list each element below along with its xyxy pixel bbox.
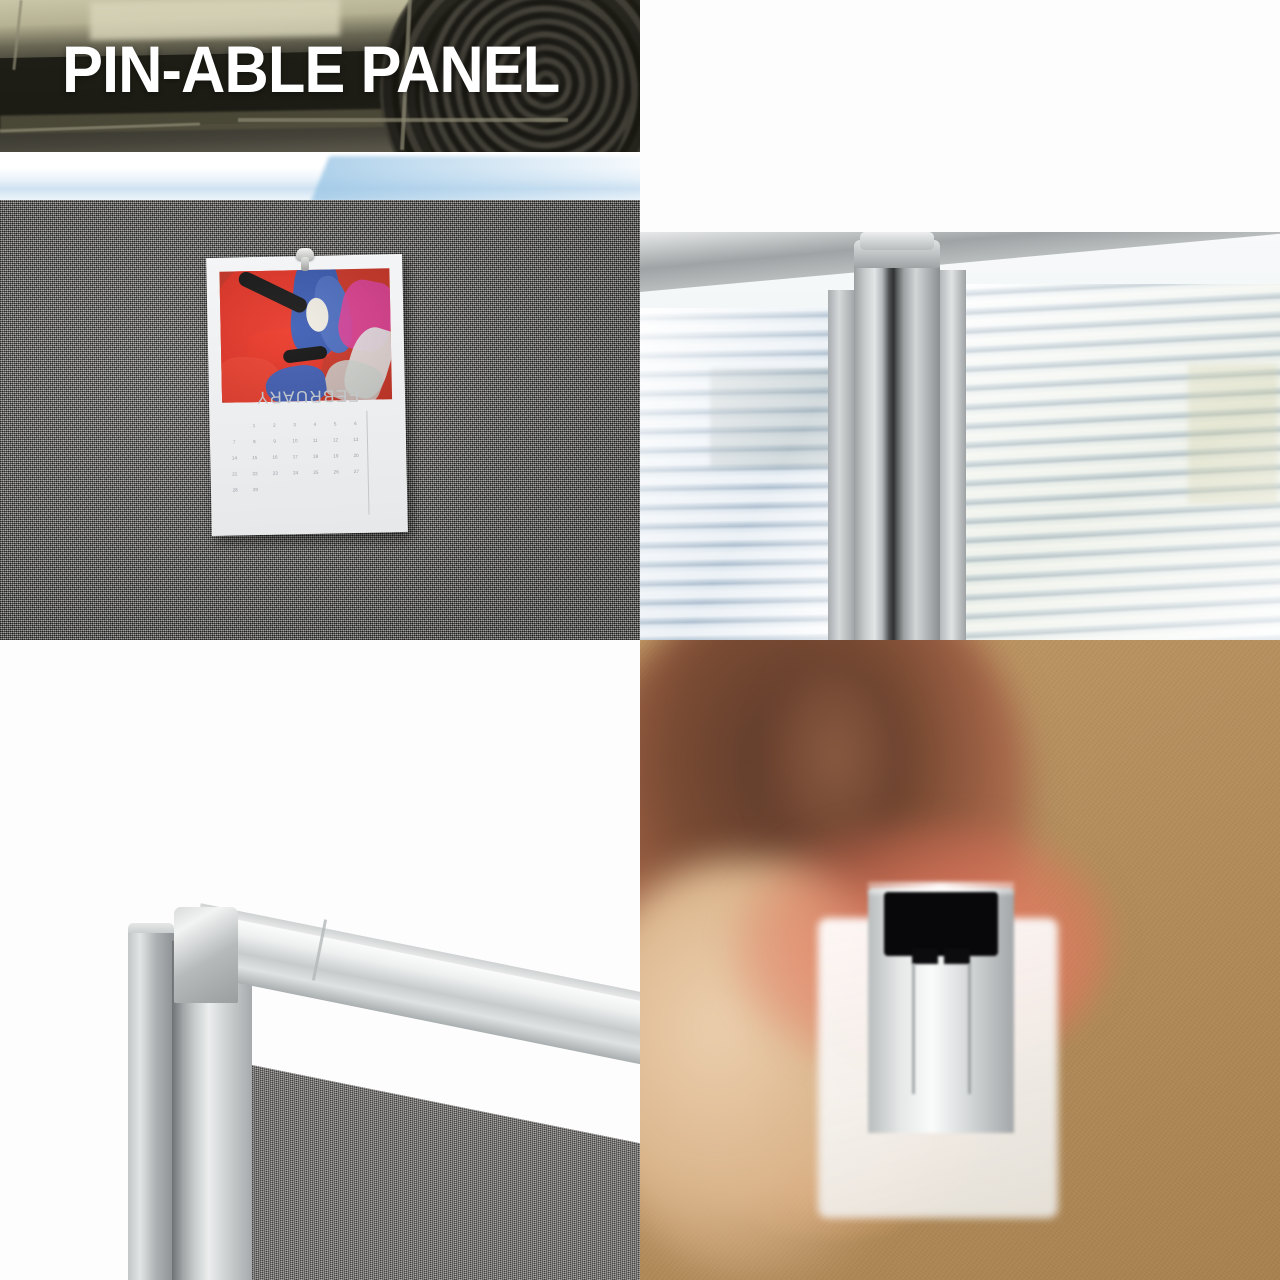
extrusion-notch bbox=[912, 948, 938, 964]
calendar-cell: 16 bbox=[265, 448, 286, 464]
calendar-cell: 26 bbox=[326, 463, 347, 479]
corner-connector-block bbox=[174, 907, 238, 1003]
calendar-cell: 27 bbox=[346, 463, 367, 479]
calendar-cell: 19 bbox=[326, 447, 347, 463]
front-post bbox=[182, 979, 252, 1280]
calendar-cell: 23 bbox=[265, 464, 286, 480]
calendar-cell: 29 bbox=[245, 481, 266, 497]
calendar-grid: 1 2 3 4 5 6 7 8 9 10 11 12 13 14 bbox=[223, 415, 367, 514]
calendar-cell: 20 bbox=[346, 447, 367, 463]
calendar-cell: 14 bbox=[224, 449, 245, 465]
calendar-cell: 1 bbox=[244, 417, 265, 433]
calendar-cell: 18 bbox=[305, 448, 326, 464]
calendar-cell: 15 bbox=[244, 449, 265, 465]
aluminum-extrusion-profile bbox=[868, 888, 1014, 1133]
calendar-cell: 2 bbox=[264, 416, 285, 432]
ceiling-pipe bbox=[238, 118, 568, 122]
heading-pin-able-panel: PIN-ABLE PANEL bbox=[62, 36, 559, 102]
calendar-cell: 22 bbox=[245, 465, 266, 481]
exterior-building-blur bbox=[710, 368, 836, 468]
calendar-cell: 25 bbox=[306, 464, 327, 480]
exterior-building-blur bbox=[1188, 364, 1278, 504]
extrusion-cavity bbox=[884, 892, 998, 956]
calendar-cell: 7 bbox=[224, 433, 245, 449]
calendar-cell bbox=[265, 480, 286, 496]
calendar-cell bbox=[286, 480, 307, 496]
aluminum-corner-photo bbox=[110, 895, 640, 1280]
panel-toolless-assembly: TOOLLESS ASSEMBLY bbox=[640, 640, 1280, 1280]
calendar-cell: 17 bbox=[285, 448, 306, 464]
right-glazing-frame bbox=[940, 270, 966, 640]
rear-post bbox=[128, 933, 174, 1280]
extrusion-rib bbox=[968, 964, 971, 1094]
push-pin-icon bbox=[292, 248, 318, 272]
calendar-cell: 9 bbox=[264, 432, 285, 448]
calendar-cell: 10 bbox=[285, 432, 306, 448]
left-glazing-frame bbox=[828, 290, 856, 640]
frame-and-blinds-photo bbox=[640, 232, 1280, 640]
window-blinds-right bbox=[958, 284, 1280, 640]
calendar-cell: 3 bbox=[284, 416, 305, 432]
calendar-row: 28 29 bbox=[225, 479, 367, 498]
corner-post bbox=[854, 250, 940, 640]
calendar-month-label: FEBRUARY bbox=[249, 375, 360, 407]
calendar-cell: 13 bbox=[345, 431, 366, 447]
panel-top-rail bbox=[0, 152, 640, 206]
window-blinds-left bbox=[640, 308, 836, 640]
calendar-cell bbox=[326, 479, 347, 495]
calendar-cell: 4 bbox=[305, 416, 326, 432]
panel-customizable-configuration: CUSTOMIZABLE CONFIGURATION bbox=[640, 0, 1280, 640]
corner-post-cap-top bbox=[860, 232, 934, 250]
feature-collage: 1 2 3 4 5 6 7 8 9 10 11 12 13 14 bbox=[0, 0, 1280, 1280]
calendar-cell: 6 bbox=[345, 415, 366, 431]
calendar-cell: 28 bbox=[225, 481, 246, 497]
top-rail bbox=[198, 914, 640, 1064]
fabric-insert-panel bbox=[252, 1065, 640, 1280]
calendar-cell: 5 bbox=[325, 415, 346, 431]
panel-pin-able-panel: 1 2 3 4 5 6 7 8 9 10 11 12 13 14 bbox=[0, 0, 640, 640]
pinned-calendar-sheet: 1 2 3 4 5 6 7 8 9 10 11 12 13 14 bbox=[206, 254, 408, 536]
calendar-cell: 24 bbox=[285, 464, 306, 480]
calendar-cell bbox=[346, 479, 367, 495]
calendar-cell: 21 bbox=[224, 465, 245, 481]
calendar-cell bbox=[306, 480, 327, 496]
calendar-cell: 12 bbox=[325, 431, 346, 447]
extrusion-notch bbox=[944, 948, 970, 964]
calendar-cell: 11 bbox=[305, 432, 326, 448]
extrusion-rib bbox=[912, 964, 915, 1094]
calendar-cell: 8 bbox=[244, 433, 265, 449]
calendar-cell bbox=[223, 417, 244, 433]
panel-light-aircraft-aluminum-frame: LIGHT AIRCRAFT ALUMINUM FRAME bbox=[0, 640, 640, 1280]
